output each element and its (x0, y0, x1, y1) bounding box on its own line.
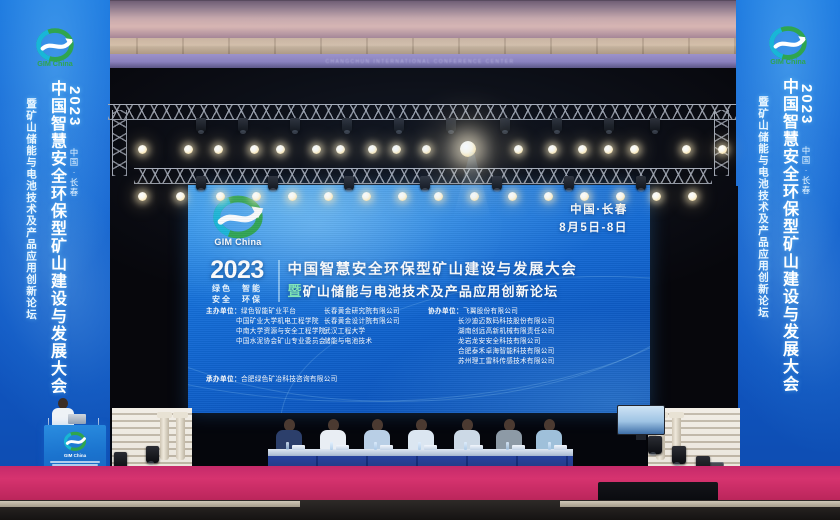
led-title-line2: 矿山储能与电池技术及产品应用创新论坛 (303, 284, 559, 299)
par-lamp (548, 145, 557, 154)
podium-title-line (50, 461, 100, 463)
co-organizer-item: 湖南创远高新机械有限责任公司 (428, 327, 636, 337)
banner-right-title-main: 中国智慧安全环保型矿山建设与发展大会 (776, 78, 800, 393)
stone-baluster (160, 416, 169, 460)
venue-wall-text: CHANGCHUN INTERNATIONAL CONFERENCE CENTE… (0, 56, 840, 68)
stage-backdrop-mask (110, 186, 190, 426)
podium-laptop (68, 414, 86, 424)
host-col1-item: 中南大学资源与安全工程学院 (206, 327, 324, 337)
led-title-row: 2023 绿色 智能 安全 环保 中国智慧安全环保型矿山建设与发展大会 暨矿山储… (208, 257, 638, 305)
host-col1-item: 中国矿业大学机电工程学院 (206, 317, 324, 327)
par-lamp (580, 192, 589, 201)
name-placard (470, 445, 483, 450)
par-lamp (176, 192, 185, 201)
co-organizer-item: 合肥泰禾卓海智能科技有限公司 (428, 347, 636, 357)
ceiling-stone-band (0, 38, 840, 54)
name-placard (554, 445, 567, 450)
par-lamp (718, 145, 727, 154)
moving-head-light (492, 176, 502, 190)
moving-head-light (552, 118, 562, 132)
par-lamp (288, 192, 297, 201)
host-col2-item: 长春黄金研究院有限公司 (324, 307, 428, 317)
moving-head-light (238, 118, 248, 132)
led-year: 2023 (208, 257, 266, 283)
banner-left-title-sub: 暨矿山储能与电池技术及产品应用创新论坛 (24, 98, 39, 320)
moving-head-light (650, 118, 660, 132)
banner-right-logo-caption: GIM China (770, 58, 806, 66)
floor-moving-light (146, 446, 159, 463)
host-column-1: 主办单位：绿色智能矿业平台 中国矿业大学机电工程学院 中南大学资源与安全工程学院… (206, 307, 324, 367)
host-column-2: 长春黄金研究院有限公司 长春黄金设计院有限公司 武汉工程大学 储能与电池技术 (324, 307, 428, 367)
name-placard (380, 445, 393, 450)
moving-head-light (446, 118, 456, 132)
host-col1-item: 中国水泥协会矿山专业委员会 (206, 337, 324, 347)
main-led-screen: GIM China 中国·长春 8月5日-8日 2023 绿色 智能 安全 环保… (188, 185, 650, 413)
moving-head-light (394, 118, 404, 132)
led-title-main: 中国智慧安全环保型矿山建设与发展大会 暨矿山储能与电池技术及产品应用创新论坛 (288, 260, 639, 302)
water-bottle (418, 442, 421, 450)
gim-china-logo-icon: GIM China (29, 28, 81, 68)
stone-baluster (176, 416, 185, 460)
led-place: 中国·长春 (559, 201, 628, 219)
name-placard (292, 445, 305, 450)
co-organizer-item: 飞翼股份有限公司 (463, 308, 518, 315)
host-col2-item: 储能与电池技术 (324, 337, 428, 347)
moving-head-light (636, 176, 646, 190)
banner-right-year: 2023 (798, 84, 815, 125)
name-placard (336, 445, 349, 450)
par-lamp (138, 145, 147, 154)
led-dates: 8月5日-8日 (559, 219, 628, 237)
co-organizer-column: 协办单位：飞翼股份有限公司 长沙迪迈数码科技股份有限公司 湖南创远高新机械有限责… (428, 307, 636, 367)
led-logo-caption: GIM China (202, 237, 274, 247)
water-bottle (506, 442, 509, 450)
executive-value: 合肥绿色矿冶科技咨询有限公司 (241, 376, 338, 383)
truss-vertical-left (112, 110, 127, 176)
banner-left-year: 2023 (66, 86, 83, 127)
led-slogan-line2: 安全 环保 (208, 294, 266, 305)
moving-head-light (196, 118, 206, 132)
par-lamp (508, 192, 517, 201)
led-title-mark: 暨 (288, 283, 303, 299)
gim-china-logo-icon: GIM China (762, 26, 814, 66)
moving-head-light (420, 176, 430, 190)
moving-head-light (604, 118, 614, 132)
par-lamp (392, 145, 401, 154)
co-organizer-item: 长沙迪迈数码科技股份有限公司 (428, 317, 636, 327)
moving-head-light (342, 118, 352, 132)
par-lamp (336, 145, 345, 154)
host-col2-item: 长春黄金设计院有限公司 (324, 317, 428, 327)
par-lamp (514, 145, 523, 154)
host-label: 主办单位： (206, 308, 241, 315)
moving-head-light (564, 176, 574, 190)
par-lamp (184, 145, 193, 154)
pit-edge-rail (560, 501, 840, 507)
organizer-row: 主办单位：绿色智能矿业平台 中国矿业大学机电工程学院 中南大学资源与安全工程学院… (206, 307, 636, 367)
par-lamp (434, 192, 443, 201)
water-bottle (548, 442, 551, 450)
executive-label: 承办单位： (206, 376, 241, 383)
banner-right-place: 中国·长春 (800, 146, 812, 195)
par-lamp (214, 145, 223, 154)
par-lamp (362, 192, 371, 201)
par-lamp (368, 145, 377, 154)
par-lamp (682, 145, 691, 154)
gim-china-logo-icon (60, 431, 90, 454)
water-bottle (286, 442, 289, 450)
par-lamp-hotspot (460, 141, 476, 157)
moving-head-light (196, 176, 206, 190)
led-title-line1: 中国智慧安全环保型矿山建设与发展大会 (288, 260, 639, 281)
par-lamp (616, 192, 625, 201)
par-lamp (250, 145, 259, 154)
par-lamp (324, 192, 333, 201)
moving-head-light (290, 118, 300, 132)
water-bottle (330, 442, 333, 450)
conference-stage-photo: CHANGCHUN INTERNATIONAL CONFERENCE CENTE… (0, 0, 840, 520)
par-lamp (138, 192, 147, 201)
moving-head-light (344, 176, 354, 190)
par-lamp (470, 192, 479, 201)
led-place-date-block: 中国·长春 8月5日-8日 (559, 201, 628, 237)
par-lamp (252, 192, 261, 201)
par-lamp (276, 145, 285, 154)
pit-edge-rail (0, 501, 300, 507)
water-bottle (464, 442, 467, 450)
side-banner-right: GIM China 2023 中国·长春 中国智慧安全环保型矿山建设与发展大会 … (736, 0, 840, 520)
host-col1-item: 绿色智能矿业平台 (241, 308, 296, 315)
led-title-line2-wrap: 暨矿山储能与电池技术及产品应用创新论坛 (288, 281, 639, 302)
led-slogan-line1: 绿色 智能 (208, 283, 266, 294)
par-lamp (688, 192, 697, 201)
stage-monitor-stand (636, 435, 646, 440)
co-organizer-item: 苏州理工雷科传感技术有限公司 (428, 357, 636, 367)
moving-head-light (500, 118, 510, 132)
banner-left-place: 中国·长春 (68, 148, 80, 197)
podium-logo-caption: GIM China (44, 453, 106, 458)
name-placard (424, 445, 437, 450)
banner-left-logo-caption: GIM China (37, 60, 73, 68)
co-organizer-label: 协办单位： (428, 308, 463, 315)
par-lamp (422, 145, 431, 154)
name-placard (512, 445, 525, 450)
par-lamp (544, 192, 553, 201)
co-organizer-item: 龙岩龙安安全科技有限公司 (428, 337, 636, 347)
banner-right-title-sub: 暨矿山储能与电池技术及产品应用创新论坛 (756, 96, 771, 318)
banner-left-title-main: 中国智慧安全环保型矿山建设与发展大会 (44, 80, 68, 395)
stage-monitor-screen (617, 405, 665, 435)
par-lamp (578, 145, 587, 154)
floor-moving-light (672, 446, 686, 464)
host-col2-item: 武汉工程大学 (324, 327, 428, 337)
water-bottle (374, 442, 377, 450)
led-year-block: 2023 绿色 智能 安全 环保 (208, 257, 270, 305)
led-organizers-block: 主办单位：绿色智能矿业平台 中国矿业大学机电工程学院 中南大学资源与安全工程学院… (206, 307, 636, 385)
title-divider (278, 260, 280, 302)
par-lamp (398, 192, 407, 201)
stage-backdrop-mask (648, 186, 738, 426)
moving-head-light (268, 176, 278, 190)
par-lamp (216, 192, 225, 201)
executive-organizer-row: 承办单位：合肥绿色矿冶科技咨询有限公司 (206, 375, 636, 385)
par-lamp (312, 145, 321, 154)
par-lamp (652, 192, 661, 201)
par-lamp (630, 145, 639, 154)
floor-moving-light (648, 436, 662, 454)
truss-vertical-right (714, 110, 729, 176)
par-lamp (604, 145, 613, 154)
